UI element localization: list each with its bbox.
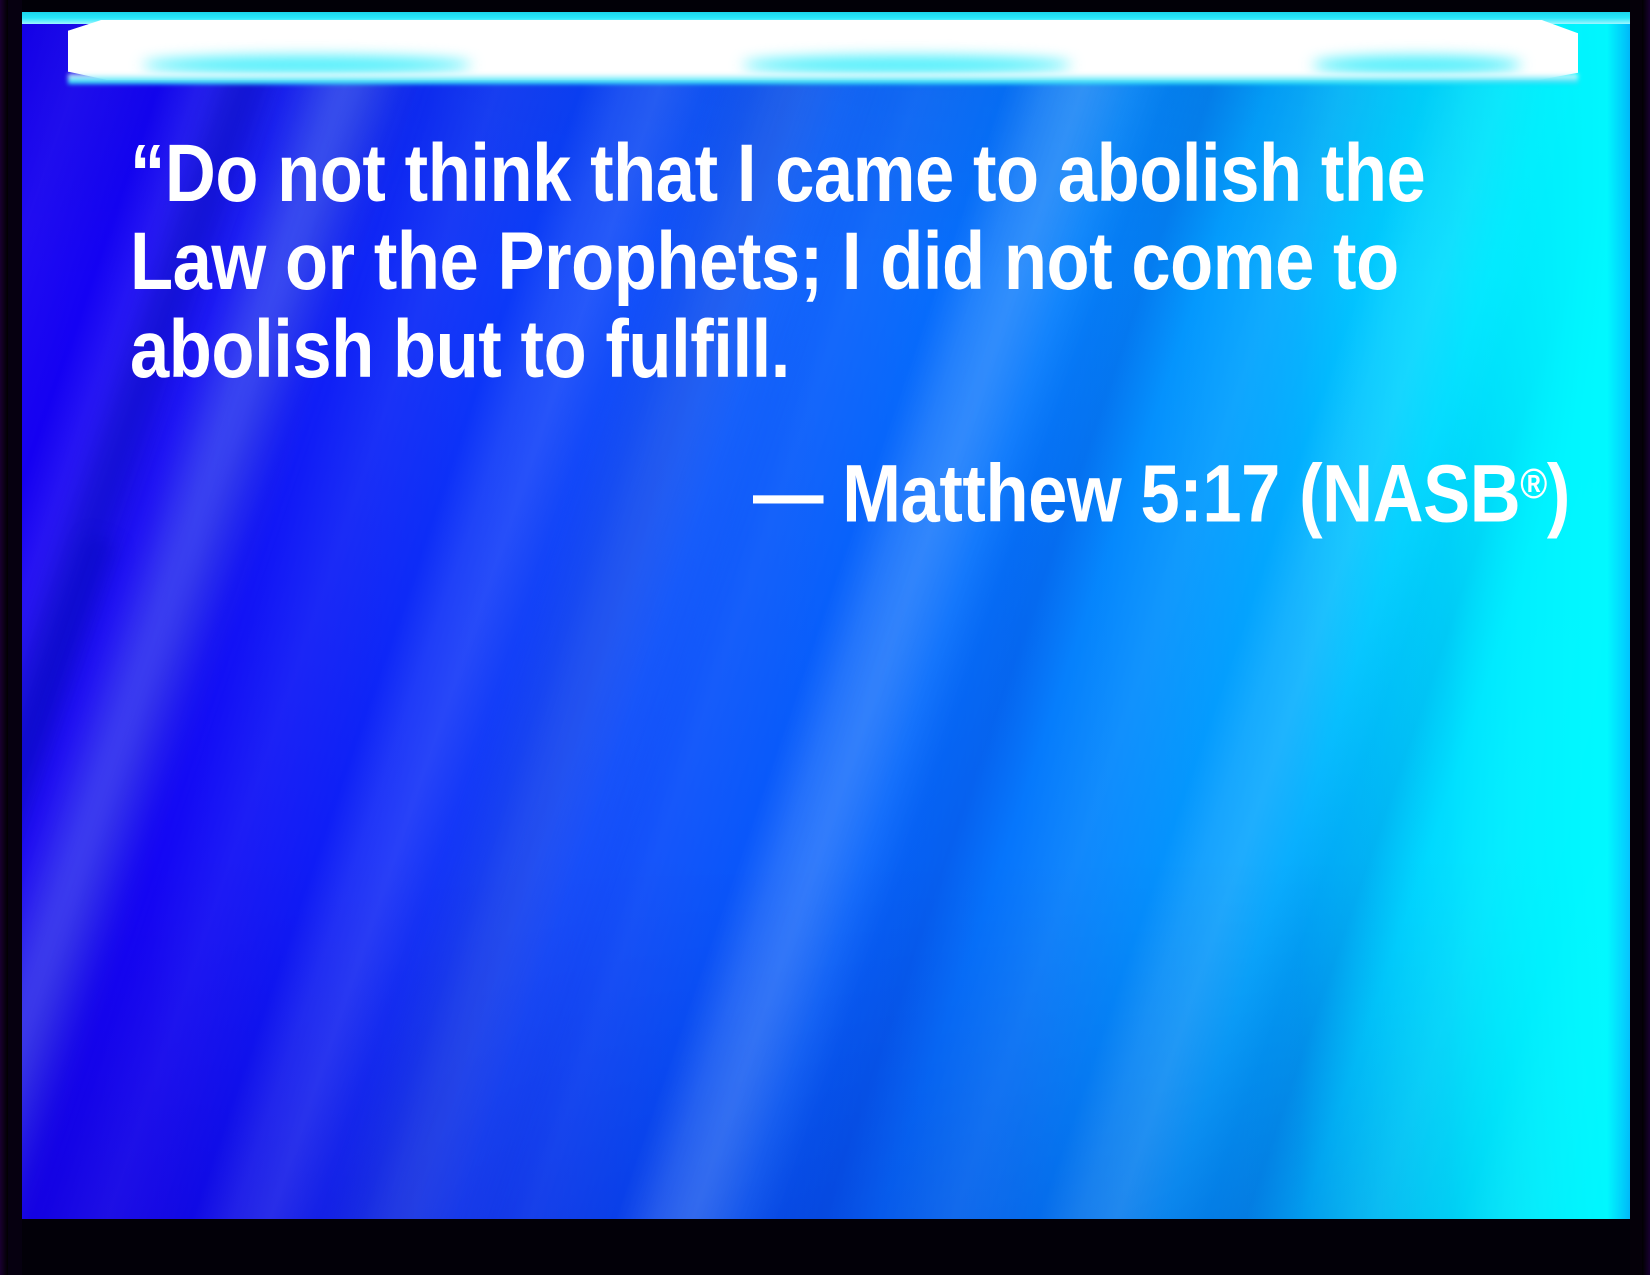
frame-border-top xyxy=(0,0,1650,12)
frame-border-left xyxy=(0,0,22,1275)
attribution-inner: — Matthew 5:17 (NASB®) xyxy=(753,440,1570,538)
verse-attribution: — Matthew 5:17 (NASB®) xyxy=(130,440,1570,538)
verse-line-2: Law or the Prophets; I did not come to xyxy=(130,218,1368,306)
scripture-slide: “Do not think that I came to abolish the… xyxy=(0,0,1650,1275)
verse-line-3: abolish but to fulfill. xyxy=(130,306,1368,394)
attribution-dash: — xyxy=(753,448,823,539)
attribution-closing-paren: ) xyxy=(1547,448,1570,539)
slide-canvas: “Do not think that I came to abolish the… xyxy=(22,12,1630,1219)
verse-line-1: “Do not think that I came to abolish the xyxy=(130,130,1368,218)
frame-border-bottom xyxy=(0,1219,1650,1275)
registered-trademark-icon: ® xyxy=(1520,460,1547,508)
verse-text-block: “Do not think that I came to abolish the… xyxy=(130,130,1570,538)
frame-border-right xyxy=(1630,0,1650,1275)
attribution-reference: Matthew 5:17 (NASB xyxy=(842,448,1520,539)
attribution-spacer xyxy=(823,448,842,539)
